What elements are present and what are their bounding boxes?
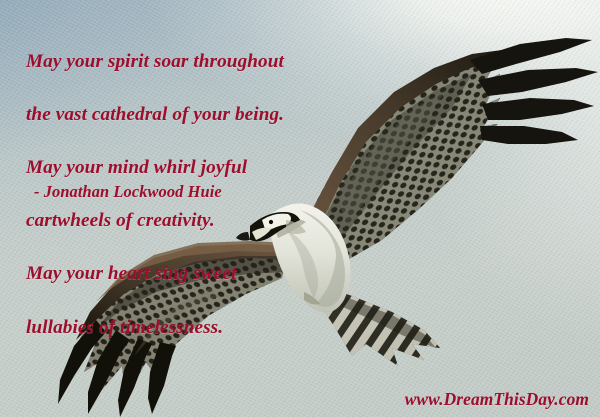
website-watermark: www.DreamThisDay.com xyxy=(405,389,589,410)
quote-line-6: lullabies of timelessness. xyxy=(26,315,376,342)
right-wing-primaries xyxy=(470,38,598,144)
quote-author: - Jonathan Lockwood Huie xyxy=(34,182,222,202)
quote-line-5: May your heart sing sweet xyxy=(26,261,376,288)
quote-line-1: May your spirit soar throughout xyxy=(26,49,376,76)
quote-line-4: cartwheels of creativity. xyxy=(26,208,376,235)
quote-line-2: the vast cathedral of your being. xyxy=(26,102,376,129)
quote-line-3: May your mind whirl joyful xyxy=(26,155,376,182)
quote-image: May your spirit soar throughout the vast… xyxy=(0,0,600,417)
